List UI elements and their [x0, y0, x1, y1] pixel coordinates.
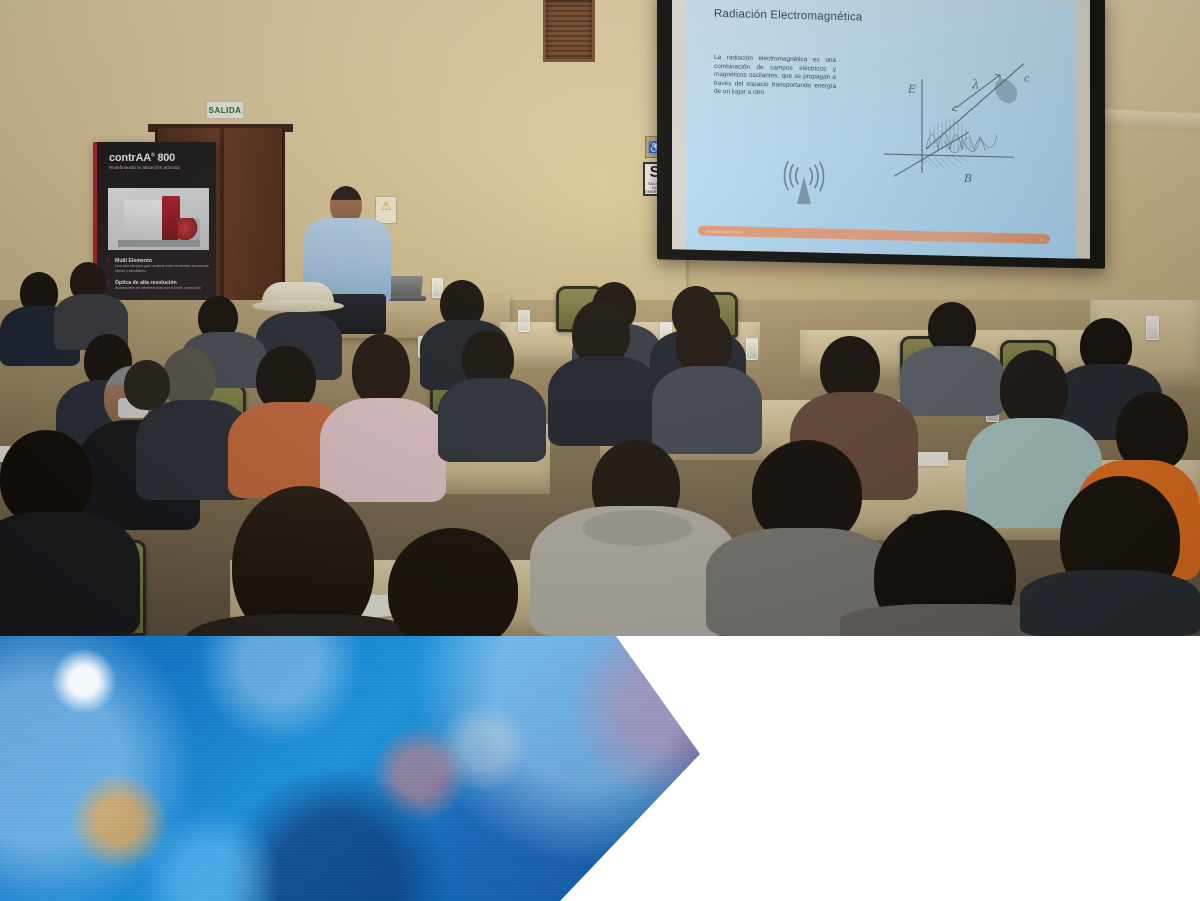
branding-footer: cimatec.pe analytikjena An Endress+Hause…	[0, 636, 1200, 901]
rollup-product-title: contrAA® 800	[109, 152, 216, 164]
audience-head	[124, 360, 170, 410]
slide-body-text: La radiación electromagnética es una com…	[714, 54, 836, 100]
water-glass	[518, 310, 530, 332]
svg-text:c: c	[1024, 73, 1030, 84]
radio-antenna-icon	[774, 153, 834, 206]
conference-room-photo: SALIDA ♿ S SALIDA DE EMERGENCIA Radiació…	[0, 0, 1200, 636]
slide-title: Radiación Electromagnética	[714, 8, 1062, 29]
electromagnetic-wave-diagram: λ E B c	[864, 44, 1054, 199]
rollup-bullet-item: Óptica de alta resolución Análisis libre…	[107, 280, 215, 291]
audience-head	[162, 348, 216, 408]
audience-torso	[548, 356, 660, 446]
exit-sign: SALIDA	[205, 100, 245, 120]
audience-torso	[438, 378, 546, 462]
screenshot-root: SALIDA ♿ S SALIDA DE EMERGENCIA Radiació…	[0, 0, 1200, 901]
water-glass	[746, 338, 758, 360]
audience-torso	[0, 512, 140, 636]
hoodie-hood	[582, 510, 692, 546]
cimatec-panel-background	[0, 636, 700, 901]
audience-torso	[652, 366, 762, 454]
cimatec-blue-panel	[0, 636, 700, 901]
rollup-product-model: 800	[157, 152, 175, 164]
water-glass	[1146, 316, 1159, 340]
svg-text:B: B	[963, 172, 972, 185]
hazard-warning-sign	[375, 196, 397, 224]
rollup-instrument-photo	[108, 188, 209, 250]
rollup-bullet-detail: Análisis libre de interferencias con la …	[115, 286, 215, 291]
instrument-base	[118, 240, 200, 247]
rollup-tagline: Redefiniendo la absorción atómica	[109, 165, 216, 170]
rollup-bullet-list: Multi Elemento Una sola lámpara para aná…	[107, 258, 215, 298]
slide-page-number: 2	[1040, 236, 1042, 241]
slide-footer-bar: Jornada Seminario 2	[698, 226, 1050, 245]
registered-mark: ®	[151, 152, 154, 158]
instrument-bottles	[178, 218, 200, 242]
instrument-body	[124, 200, 164, 242]
audience-torso	[900, 346, 1004, 416]
cowboy-hat-brim	[252, 300, 344, 312]
audience-head	[352, 334, 410, 406]
rollup-product-name: contrAA	[109, 152, 151, 164]
audience-head	[1000, 350, 1068, 428]
exit-sign-label: SALIDA	[209, 106, 242, 115]
rollup-bullet-detail: Una sola lámpara para análisis multi ele…	[115, 264, 215, 273]
svg-text:λ: λ	[971, 77, 980, 91]
presentation-slide: Radiación Electromagnética La radiación …	[686, 0, 1076, 259]
wall-vent-grille	[543, 0, 595, 62]
svg-text:E: E	[907, 83, 916, 96]
slide-footer-text: Jornada Seminario	[706, 228, 743, 234]
rollup-bullet-item: Multi Elemento Una sola lámpara para aná…	[107, 258, 215, 273]
rollup-banner-contraa800: contrAA® 800 Redefiniendo la absorción a…	[93, 142, 216, 318]
audience-torso	[320, 398, 446, 502]
audience-torso	[1020, 570, 1200, 636]
